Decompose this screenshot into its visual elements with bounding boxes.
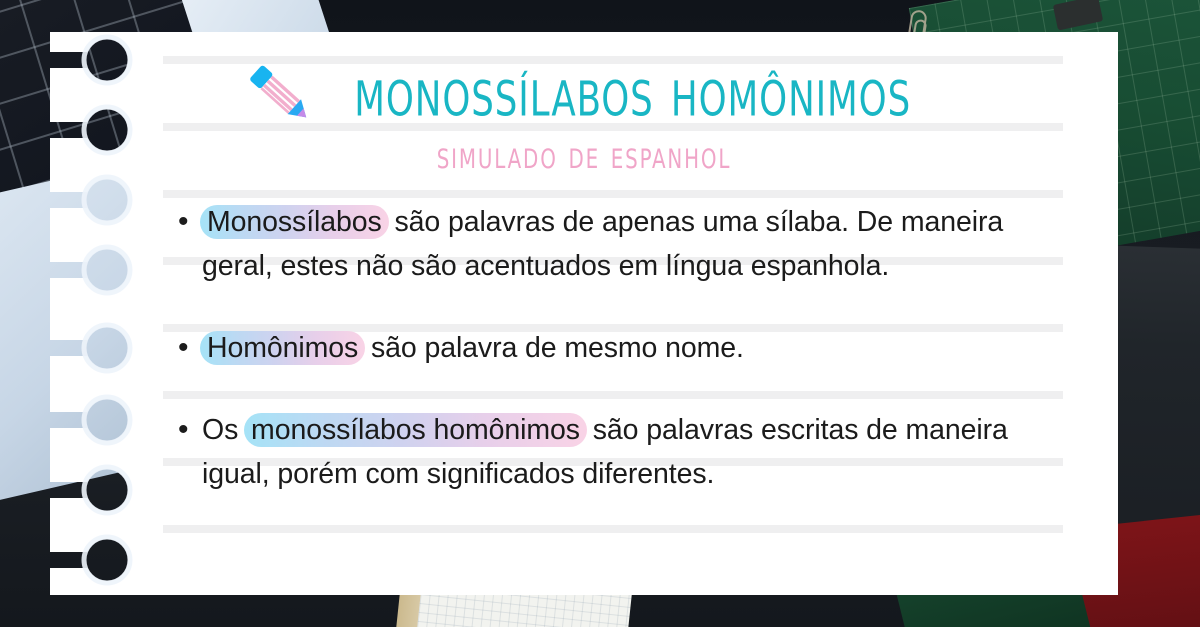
bullet-marker: • xyxy=(178,200,202,244)
list-item: • Monossílabos são palavras de apenas um… xyxy=(178,200,1058,288)
bullet-rest: são palavra de mesmo nome. xyxy=(363,332,744,364)
highlighted-term: Monossílabos xyxy=(200,205,389,239)
highlighted-term: monossílabos homônimos xyxy=(244,413,587,447)
rule-line xyxy=(163,190,1063,198)
bullet-text: Os monossílabos homônimos são palavras e… xyxy=(202,408,1058,496)
list-item: • Homônimos são palavra de mesmo nome. xyxy=(178,326,1058,370)
bullet-marker: • xyxy=(178,408,202,452)
page-title: Monossílabos homônimos xyxy=(355,57,912,126)
background-scene: Monossílabos homônimos Simulado de espan… xyxy=(0,0,1200,627)
page-content: Monossílabos homônimos Simulado de espan… xyxy=(50,32,1118,595)
bullet-text: Monossílabos são palavras de apenas uma … xyxy=(202,200,1058,288)
bullet-list: • Monossílabos são palavras de apenas um… xyxy=(178,200,1058,534)
bullet-text: Homônimos são palavra de mesmo nome. xyxy=(202,326,1058,370)
pencil-icon xyxy=(232,54,324,130)
highlighted-term: Homônimos xyxy=(200,331,365,365)
page-subtitle: Simulado de espanhol xyxy=(93,134,1076,178)
list-item: • Os monossílabos homônimos são palavras… xyxy=(178,408,1058,496)
title-row: Monossílabos homônimos xyxy=(50,54,1118,130)
bullet-lead: Os xyxy=(202,414,246,446)
bullet-marker: • xyxy=(178,326,202,370)
